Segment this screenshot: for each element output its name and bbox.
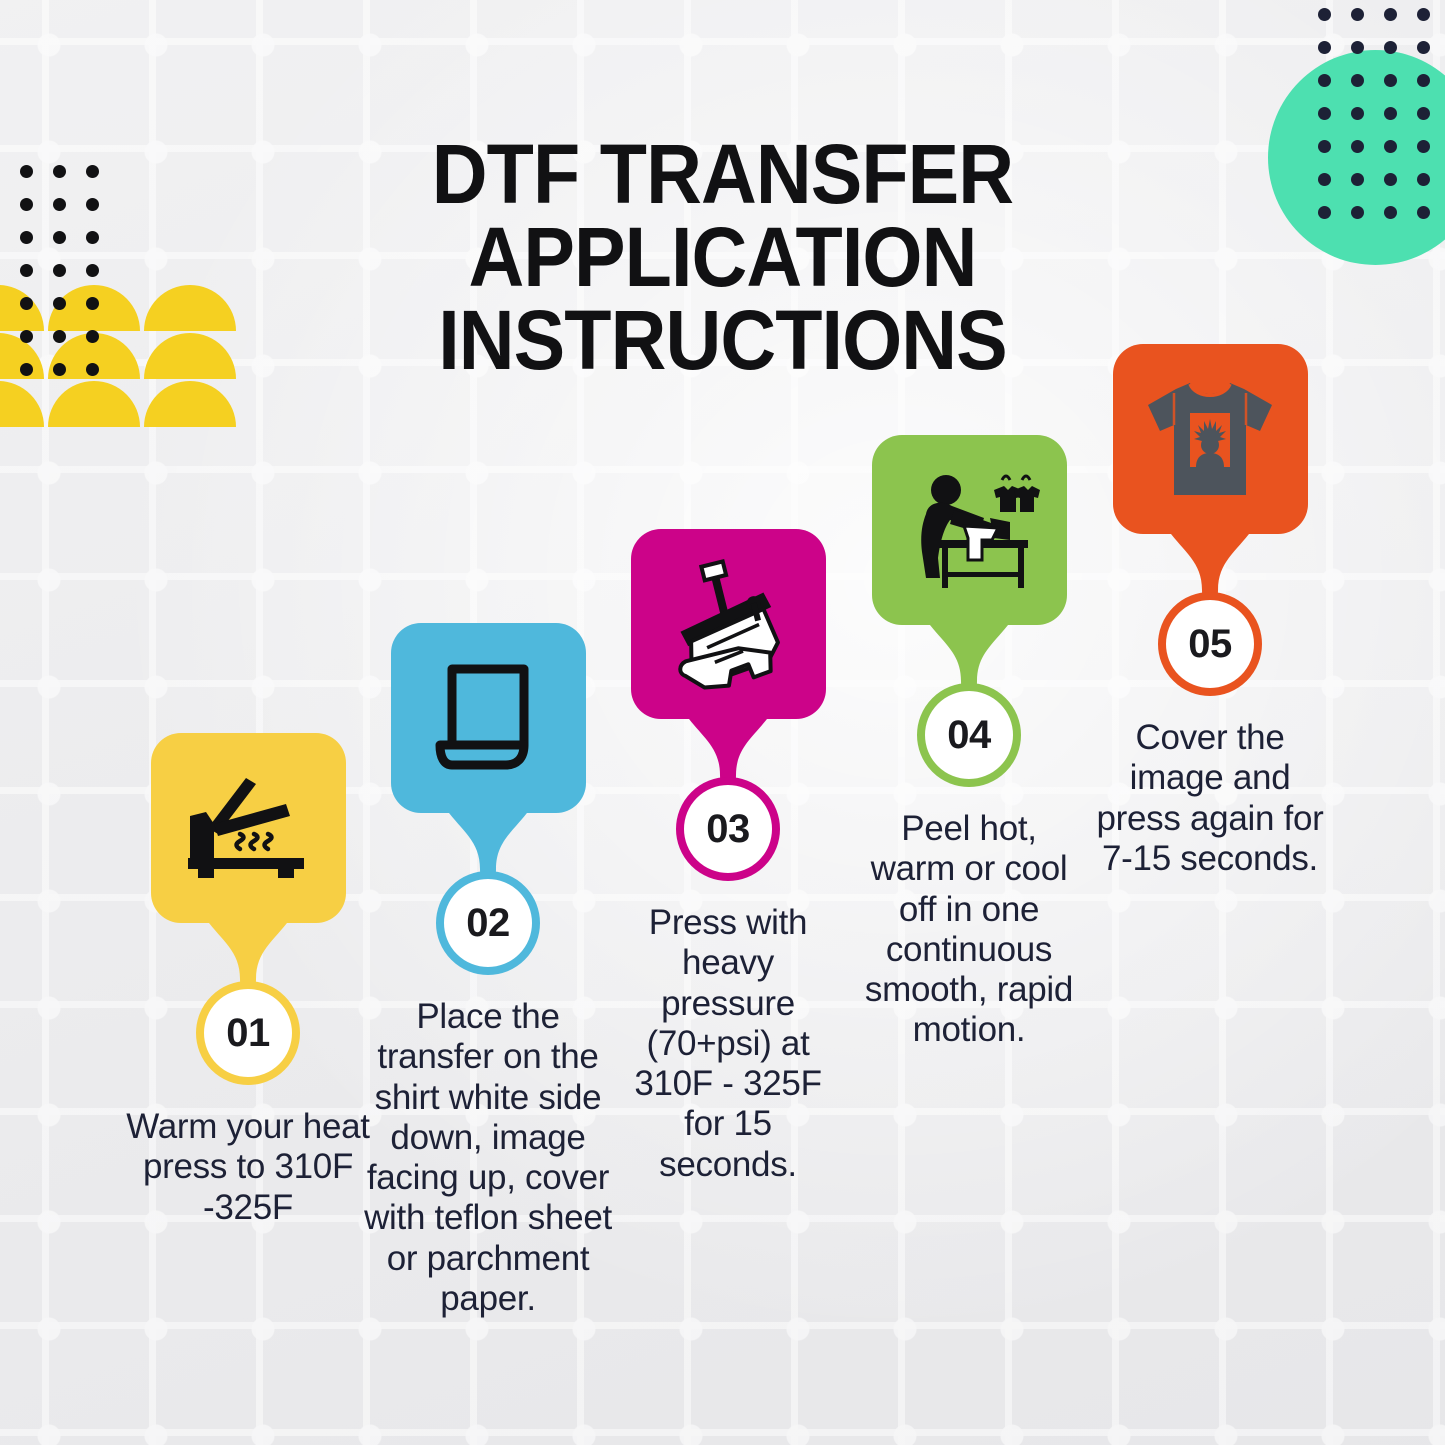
step-05-icon-card[interactable] [1113,344,1308,534]
step-04-caption: Peel hot, warm or cool off in one contin… [856,809,1082,1051]
step-05-number-badge: 05 [1158,592,1262,696]
step-04-number-badge: 04 [917,683,1021,787]
printed-tshirt-icon [1140,375,1280,503]
step-03-caption: Press with heavy pressure (70+psi) at 31… [612,903,844,1185]
transfer-sheet-icon [432,659,544,777]
step-02-number: 02 [466,901,510,946]
step-03-number-badge: 03 [676,777,780,881]
infographic-poster: DTF TRANSFER APPLICATION INSTRUCTIONS [0,0,1445,1445]
step-05-number: 05 [1188,622,1232,667]
step-05-caption: Cover the image and press again for 7-15… [1094,718,1326,879]
step-02-icon-card[interactable] [391,623,586,813]
step-item-04[interactable]: 04 Peel hot, warm or cool off in one con… [851,435,1087,1051]
step-item-02[interactable]: 02 Place the transfer on the shirt white… [370,623,606,1319]
step-01-caption: Warm your heat press to 310F -325F [123,1107,373,1228]
heat-press-closed-icon [662,558,794,690]
step-item-01[interactable]: 01 Warm your heat press to 310F -325F [130,733,366,1228]
step-01-number: 01 [226,1011,270,1056]
step-01-icon-card[interactable] [151,733,346,923]
step-03-number: 03 [706,807,750,852]
step-04-number: 04 [947,713,991,758]
heat-press-open-icon [184,772,312,884]
steps-container: 01 Warm your heat press to 310F -325F [0,0,1445,1445]
step-04-icon-card[interactable] [872,435,1067,625]
step-01-number-badge: 01 [196,981,300,1085]
step-02-number-badge: 02 [436,871,540,975]
step-item-03[interactable]: 03 Press with heavy pressure (70+psi) at… [610,529,846,1185]
step-02-caption: Place the transfer on the shirt white si… [363,997,613,1319]
step-item-05[interactable]: 05 Cover the image and press again for 7… [1092,344,1328,879]
step-03-icon-card[interactable] [631,529,826,719]
person-peeling-transfer-icon [898,466,1040,594]
